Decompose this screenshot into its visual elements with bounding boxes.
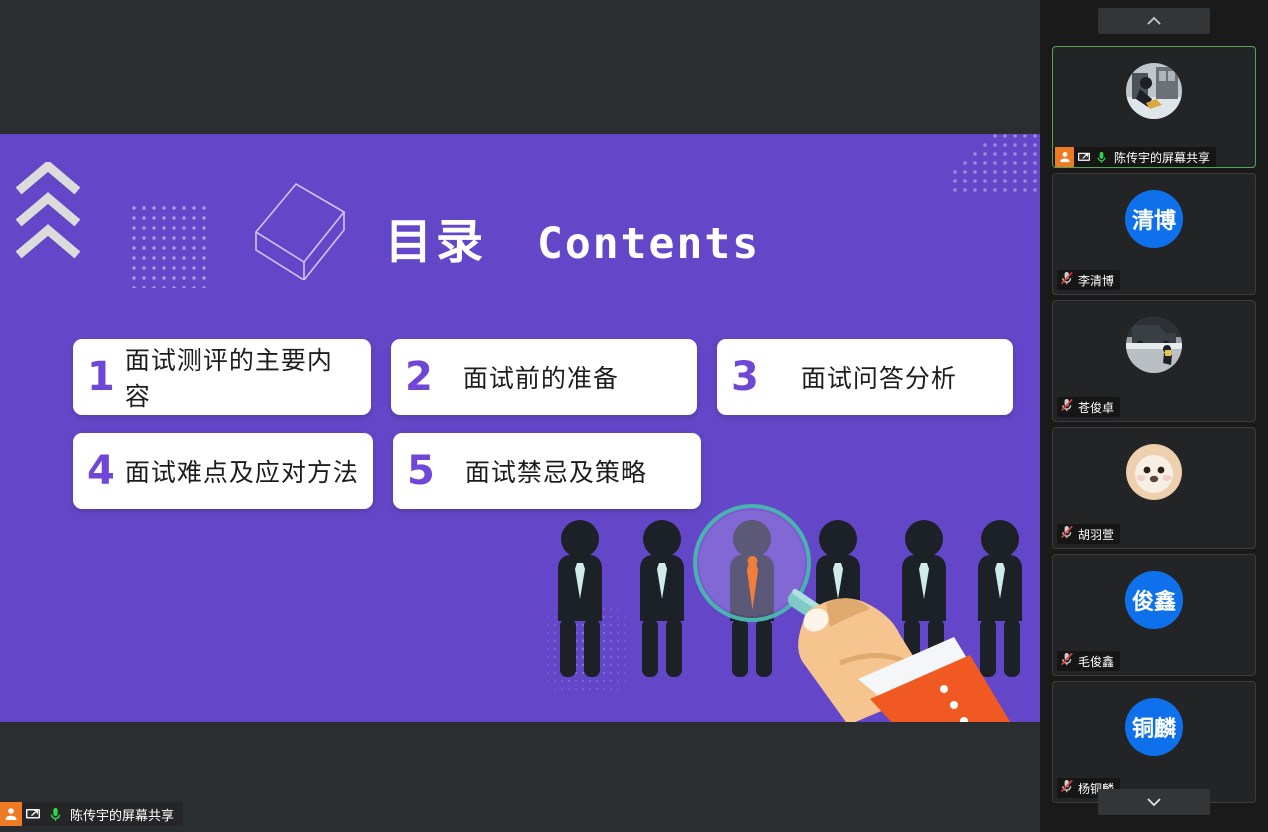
microphone-icon: [44, 802, 66, 826]
card-number: 2: [405, 357, 433, 397]
contents-card-5[interactable]: 5 面试禁忌及策略: [393, 433, 701, 509]
card-label: 面试禁忌及策略: [465, 453, 647, 489]
wireframe-cube-icon: [248, 176, 352, 280]
participant-name: 李清博: [1078, 272, 1114, 289]
microphone-muted-icon: [1060, 525, 1074, 544]
microphone-muted-icon: [1060, 779, 1074, 798]
triple-chevron-up-icon: [14, 162, 84, 262]
card-number: 4: [87, 451, 115, 491]
participant-tile-0[interactable]: 陈传宇的屏幕共享: [1052, 46, 1256, 168]
participant-tile-2[interactable]: 苍俊卓: [1052, 300, 1256, 422]
participant-tile-4[interactable]: 俊鑫 毛俊鑫: [1052, 554, 1256, 676]
contents-card-2[interactable]: 2 面试前的准备: [391, 339, 697, 415]
title-cn: 目录: [385, 203, 487, 272]
avatar: [1126, 317, 1182, 373]
presentation-slide: 目录 Contents: [0, 134, 1040, 722]
card-label: 面试难点及应对方法: [125, 453, 359, 489]
page-title: 目录 Contents: [385, 203, 760, 272]
participant-name: 陈传宇的屏幕共享: [1114, 149, 1210, 166]
contents-card-3[interactable]: 3 面试问答分析: [717, 339, 1013, 415]
participant-name: 毛俊鑫: [1078, 653, 1114, 670]
contents-row-2: 4 面试难点及应对方法 5 面试禁忌及策略: [73, 433, 1013, 509]
avatar: 俊鑫: [1125, 571, 1183, 629]
participant-tile-1[interactable]: 清博 李清博: [1052, 173, 1256, 295]
share-owner-label: 陈传宇的屏幕共享: [66, 805, 183, 824]
card-label: 面试测评的主要内容: [125, 341, 357, 413]
card-number: 3: [731, 357, 759, 397]
card-number: 1: [87, 357, 115, 397]
contents-cards: 1 面试测评的主要内容 2 面试前的准备 3 面试问答分析 4: [73, 339, 1013, 527]
card-label: 面试前的准备: [463, 359, 619, 395]
avatar: 铜麟: [1125, 698, 1183, 756]
tile-status-label: 陈传宇的屏幕共享: [1053, 147, 1216, 167]
tile-status-label: 毛俊鑫: [1057, 651, 1120, 671]
screen-share-icon: [22, 802, 44, 826]
tile-status-label: 李清博: [1057, 270, 1120, 290]
tile-status-label: 胡羽萱: [1057, 524, 1120, 544]
avatar: 清博: [1125, 190, 1183, 248]
screen-share-status-bar: 陈传宇的屏幕共享: [0, 802, 183, 826]
title-en: Contents: [537, 219, 760, 269]
microphone-muted-icon: [1060, 398, 1074, 417]
screen-share-icon: [1074, 147, 1093, 167]
contents-card-4[interactable]: 4 面试难点及应对方法: [73, 433, 373, 509]
tile-status-label: 苍俊卓: [1057, 397, 1120, 417]
corner-dot-pattern: [950, 134, 1040, 198]
scroll-up-button[interactable]: [1098, 8, 1210, 34]
participant-name: 胡羽萱: [1078, 526, 1114, 543]
card-label: 面试问答分析: [801, 359, 957, 395]
magnifier-over-candidates-illustration: [540, 499, 1040, 722]
zoom-meeting-window: 目录 Contents: [0, 0, 1268, 832]
microphone-muted-icon: [1060, 652, 1074, 671]
card-number: 5: [407, 451, 435, 491]
avatar: [1126, 63, 1182, 119]
participant-name: 苍俊卓: [1078, 399, 1114, 416]
participant-tile-5[interactable]: 铜麟 杨铜麟: [1052, 681, 1256, 803]
person-icon: [0, 802, 22, 826]
person-icon: [1055, 147, 1074, 167]
scroll-down-button[interactable]: [1098, 789, 1210, 815]
avatar: [1126, 444, 1182, 500]
contents-row-1: 1 面试测评的主要内容 2 面试前的准备 3 面试问答分析: [73, 339, 1013, 415]
participants-strip[interactable]: 陈传宇的屏幕共享 清博 李清博: [1040, 0, 1268, 832]
participant-tile-3[interactable]: 胡羽萱: [1052, 427, 1256, 549]
shared-screen-area[interactable]: 目录 Contents: [0, 0, 1040, 832]
letterbox-top: [0, 0, 1040, 134]
microphone-icon: [1093, 147, 1110, 167]
contents-card-1[interactable]: 1 面试测评的主要内容: [73, 339, 371, 415]
dot-grid-decoration: [130, 204, 210, 288]
microphone-muted-icon: [1060, 271, 1074, 290]
